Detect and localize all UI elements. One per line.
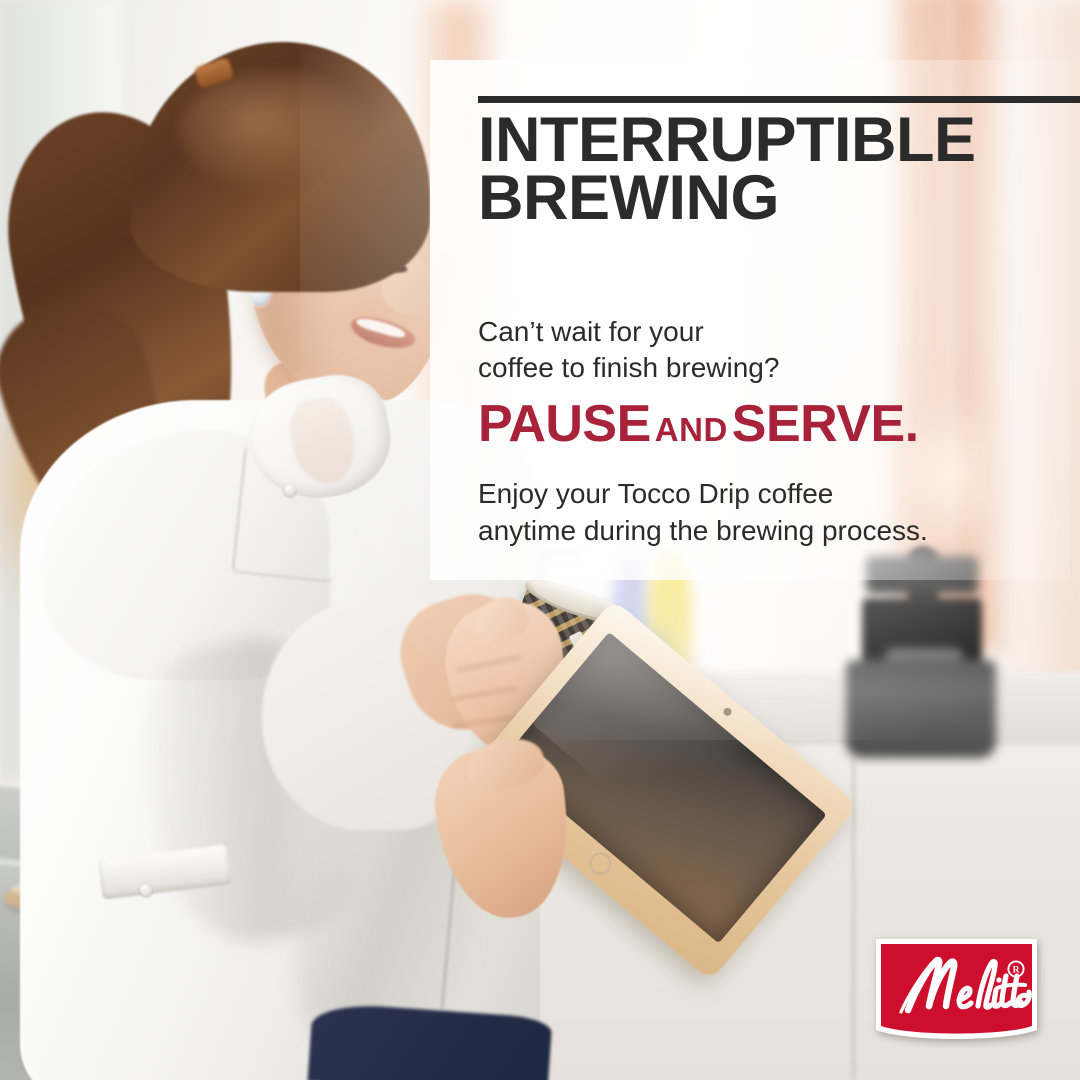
headline-rule (478, 96, 1080, 103)
coffee-maker-top (866, 556, 978, 594)
shirt-cuff-button (140, 884, 152, 896)
coffee-maker-base (846, 660, 996, 758)
tagline-part-2: SERVE. (732, 395, 919, 453)
subheadline: Can’t wait for your coffee to finish bre… (478, 314, 1018, 386)
shirt-button (284, 484, 296, 496)
outro-text: Enjoy your Tocco Drip coffee anytime dur… (478, 476, 1038, 550)
background-right-wall (1010, 0, 1080, 700)
advertisement-canvas: INTERRUPTIBLE BREWING Can’t wait for you… (0, 0, 1080, 1080)
melitta-logo: R (875, 938, 1038, 1042)
woman-subject (0, 0, 560, 1080)
tagline-connector: AND (651, 411, 732, 448)
tagline-part-1: PAUSE (478, 395, 651, 453)
shirt-pocket (232, 447, 349, 583)
tagline: PAUSEANDSERVE. (478, 398, 1038, 450)
hair-highlight (180, 72, 370, 192)
svg-text:R: R (1013, 966, 1020, 976)
page-title: INTERRUPTIBLE BREWING (478, 112, 1038, 228)
